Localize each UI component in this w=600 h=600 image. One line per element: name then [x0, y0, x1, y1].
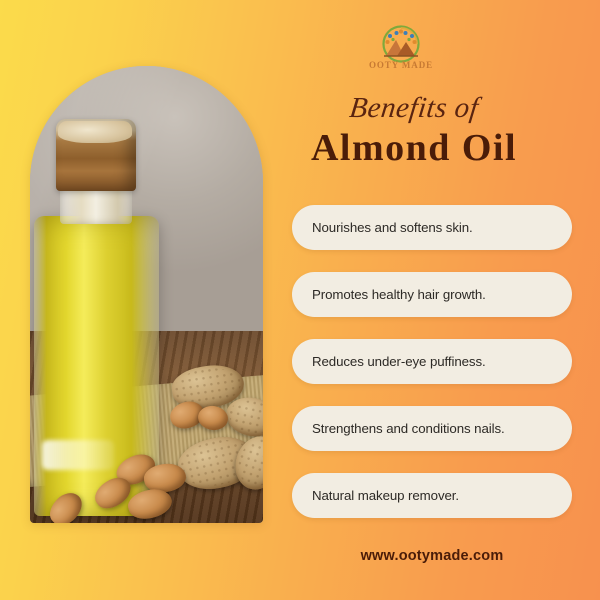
- benefit-label: Promotes healthy hair growth.: [312, 287, 486, 302]
- mountain-sun-logo-icon: [373, 24, 429, 64]
- benefit-label: Nourishes and softens skin.: [312, 220, 473, 235]
- benefit-item: Reduces under-eye puffiness.: [292, 339, 572, 384]
- brand-wordmark: OOTY MADE: [369, 60, 433, 70]
- benefit-item: Strengthens and conditions nails.: [292, 406, 572, 451]
- benefit-label: Strengthens and conditions nails.: [312, 421, 505, 436]
- benefit-label: Natural makeup remover.: [312, 488, 459, 503]
- product-photo-arch: [30, 66, 263, 523]
- almond-oil-benefits-poster: OOTY MADE Benefits of Almond Oil: [0, 0, 600, 600]
- product-photo-scene: [30, 66, 263, 523]
- brand-logo: OOTY MADE: [363, 24, 439, 78]
- benefit-label: Reduces under-eye puffiness.: [312, 354, 486, 369]
- benefit-item: Nourishes and softens skin.: [292, 205, 572, 250]
- benefit-item: Promotes healthy hair growth.: [292, 272, 572, 317]
- website-url[interactable]: www.ootymade.com: [292, 548, 572, 564]
- oil-bottle-cork: [56, 119, 136, 191]
- page-title: Almond Oil: [274, 126, 554, 170]
- subtitle-benefits-of: Benefits of: [282, 92, 546, 125]
- benefits-list: Nourishes and softens skin. Promotes hea…: [292, 205, 572, 518]
- benefit-item: Natural makeup remover.: [292, 473, 572, 518]
